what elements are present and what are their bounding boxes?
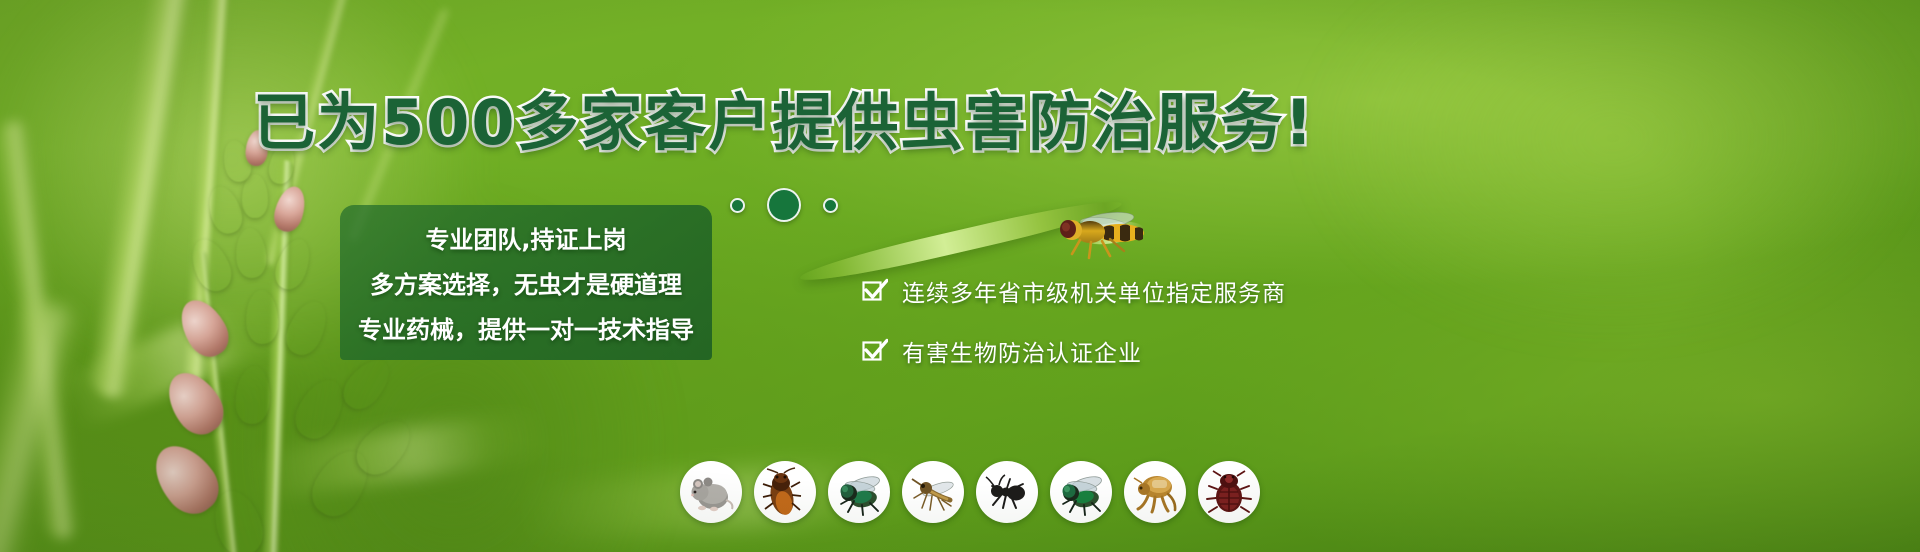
background-vignette	[0, 0, 1920, 552]
promo-banner: 已为500多家客户提供虫害防治服务! 专业团队,持证上岗 多方案选择，无虫才是硬…	[0, 0, 1920, 552]
